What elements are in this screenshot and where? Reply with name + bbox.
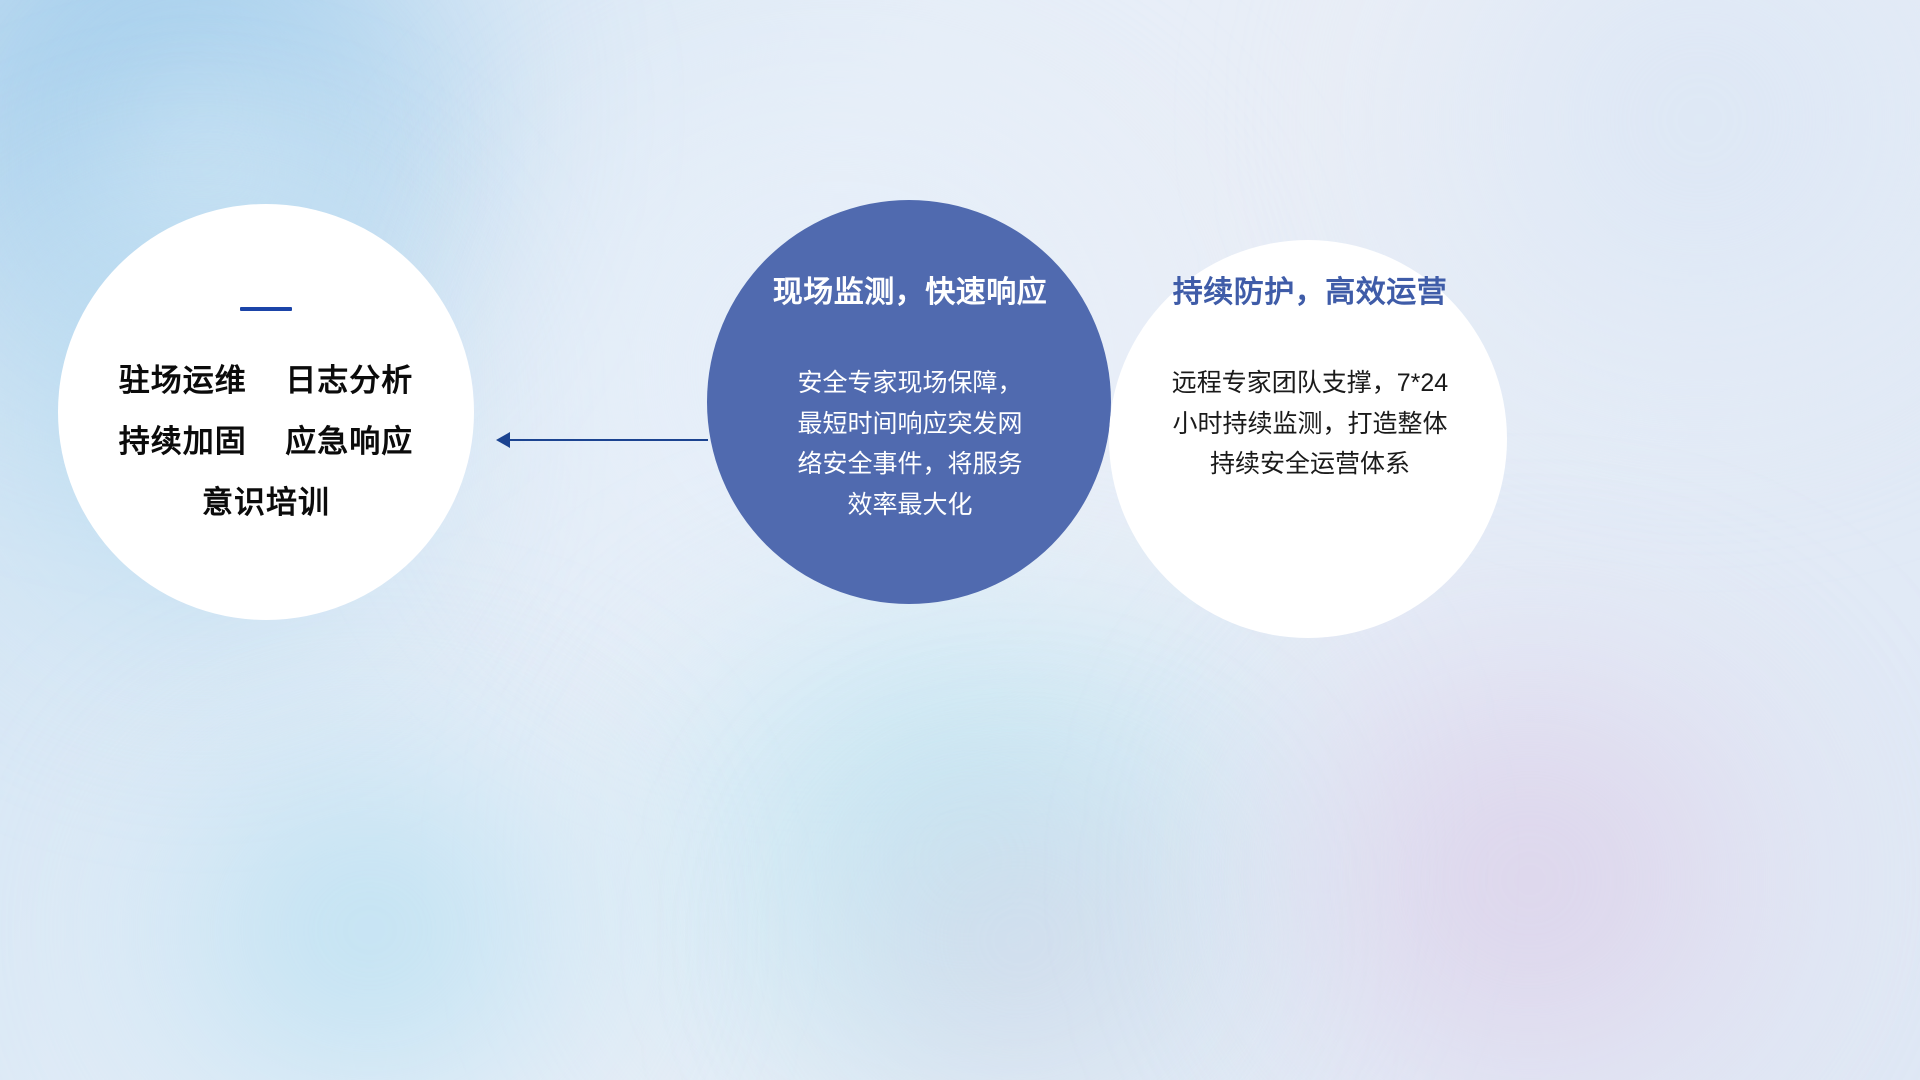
arrow-line [506, 439, 708, 441]
onsite-body-line-1: 安全专家现场保障， [740, 363, 1080, 404]
onsite-body-line-4: 效率最大化 [740, 485, 1080, 526]
continuous-protection-title: 持续防护，高效运营 [1130, 276, 1490, 309]
protection-body-line-1: 远程专家团队支撑，7*24 [1130, 363, 1490, 404]
onsite-body-line-2: 最短时间响应突发网 [740, 404, 1080, 445]
onsite-monitoring-body: 安全专家现场保障， 最短时间响应突发网 络安全事件，将服务 效率最大化 [740, 363, 1080, 525]
slide-canvas: 驻场运维 日志分析 持续加固 应急响应 意识培训 现场监测，快速响应 安全专家现… [0, 0, 1920, 1080]
continuous-protection-content: 持续防护，高效运营 远程专家团队支撑，7*24 小时持续监测，打造整体 持续安全… [1130, 276, 1490, 485]
divider-dash-icon [240, 307, 292, 311]
capability-line-1: 驻场运维 日志分析 [119, 365, 413, 396]
onsite-body-line-3: 络安全事件，将服务 [740, 444, 1080, 485]
protection-body-line-2: 小时持续监测，打造整体 [1130, 404, 1490, 445]
onsite-monitoring-title: 现场监测，快速响应 [740, 276, 1080, 309]
onsite-monitoring-content: 现场监测，快速响应 安全专家现场保障， 最短时间响应突发网 络安全事件，将服务 … [740, 276, 1080, 525]
capability-line-2: 持续加固 应急响应 [119, 426, 413, 457]
flow-arrow [496, 424, 708, 456]
protection-body-line-3: 持续安全运营体系 [1130, 444, 1490, 485]
capability-line-3: 意识培训 [202, 487, 330, 518]
capability-circle-content: 驻场运维 日志分析 持续加固 应急响应 意识培训 [58, 204, 474, 620]
arrow-head-icon [496, 432, 510, 448]
continuous-protection-body: 远程专家团队支撑，7*24 小时持续监测，打造整体 持续安全运营体系 [1130, 363, 1490, 485]
